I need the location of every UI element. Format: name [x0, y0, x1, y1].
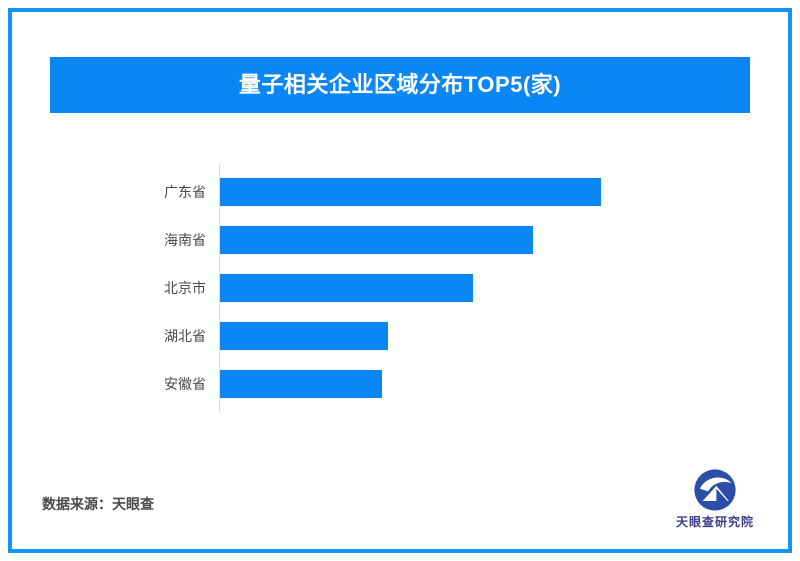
- brand-logo-text: 天眼查研究院: [676, 513, 754, 530]
- category-label-2: 北京市: [0, 274, 206, 302]
- bar-1: [220, 226, 533, 254]
- data-source-label: 数据来源：天眼查: [42, 494, 154, 514]
- brand-logo: 天眼查研究院: [660, 468, 770, 530]
- bar-3: [220, 322, 388, 350]
- category-label-0: 广东省: [0, 178, 206, 206]
- page-title: 量子相关企业区域分布TOP5(家): [239, 74, 561, 96]
- chart-row: 海南省: [0, 226, 800, 254]
- infographic-poster: 量子相关企业区域分布TOP5(家) 广东省 海南省 北京市 湖北省 安徽省: [0, 0, 800, 561]
- chart-row: 安徽省: [0, 370, 800, 398]
- bar-chart: 广东省 海南省 北京市 湖北省 安徽省: [0, 150, 800, 425]
- category-label-3: 湖北省: [0, 322, 206, 350]
- chart-row: 广东省: [0, 178, 800, 206]
- chart-title-banner: 量子相关企业区域分布TOP5(家): [50, 57, 750, 113]
- bar-4: [220, 370, 382, 398]
- tianyancha-eye-logo-icon: [692, 468, 738, 512]
- bar-2: [220, 274, 473, 302]
- chart-row: 湖北省: [0, 322, 800, 350]
- bar-0: [220, 178, 601, 206]
- chart-row: 北京市: [0, 274, 800, 302]
- chart-plot-area: 广东省 海南省 北京市 湖北省 安徽省: [0, 150, 800, 425]
- category-label-1: 海南省: [0, 226, 206, 254]
- category-label-4: 安徽省: [0, 370, 206, 398]
